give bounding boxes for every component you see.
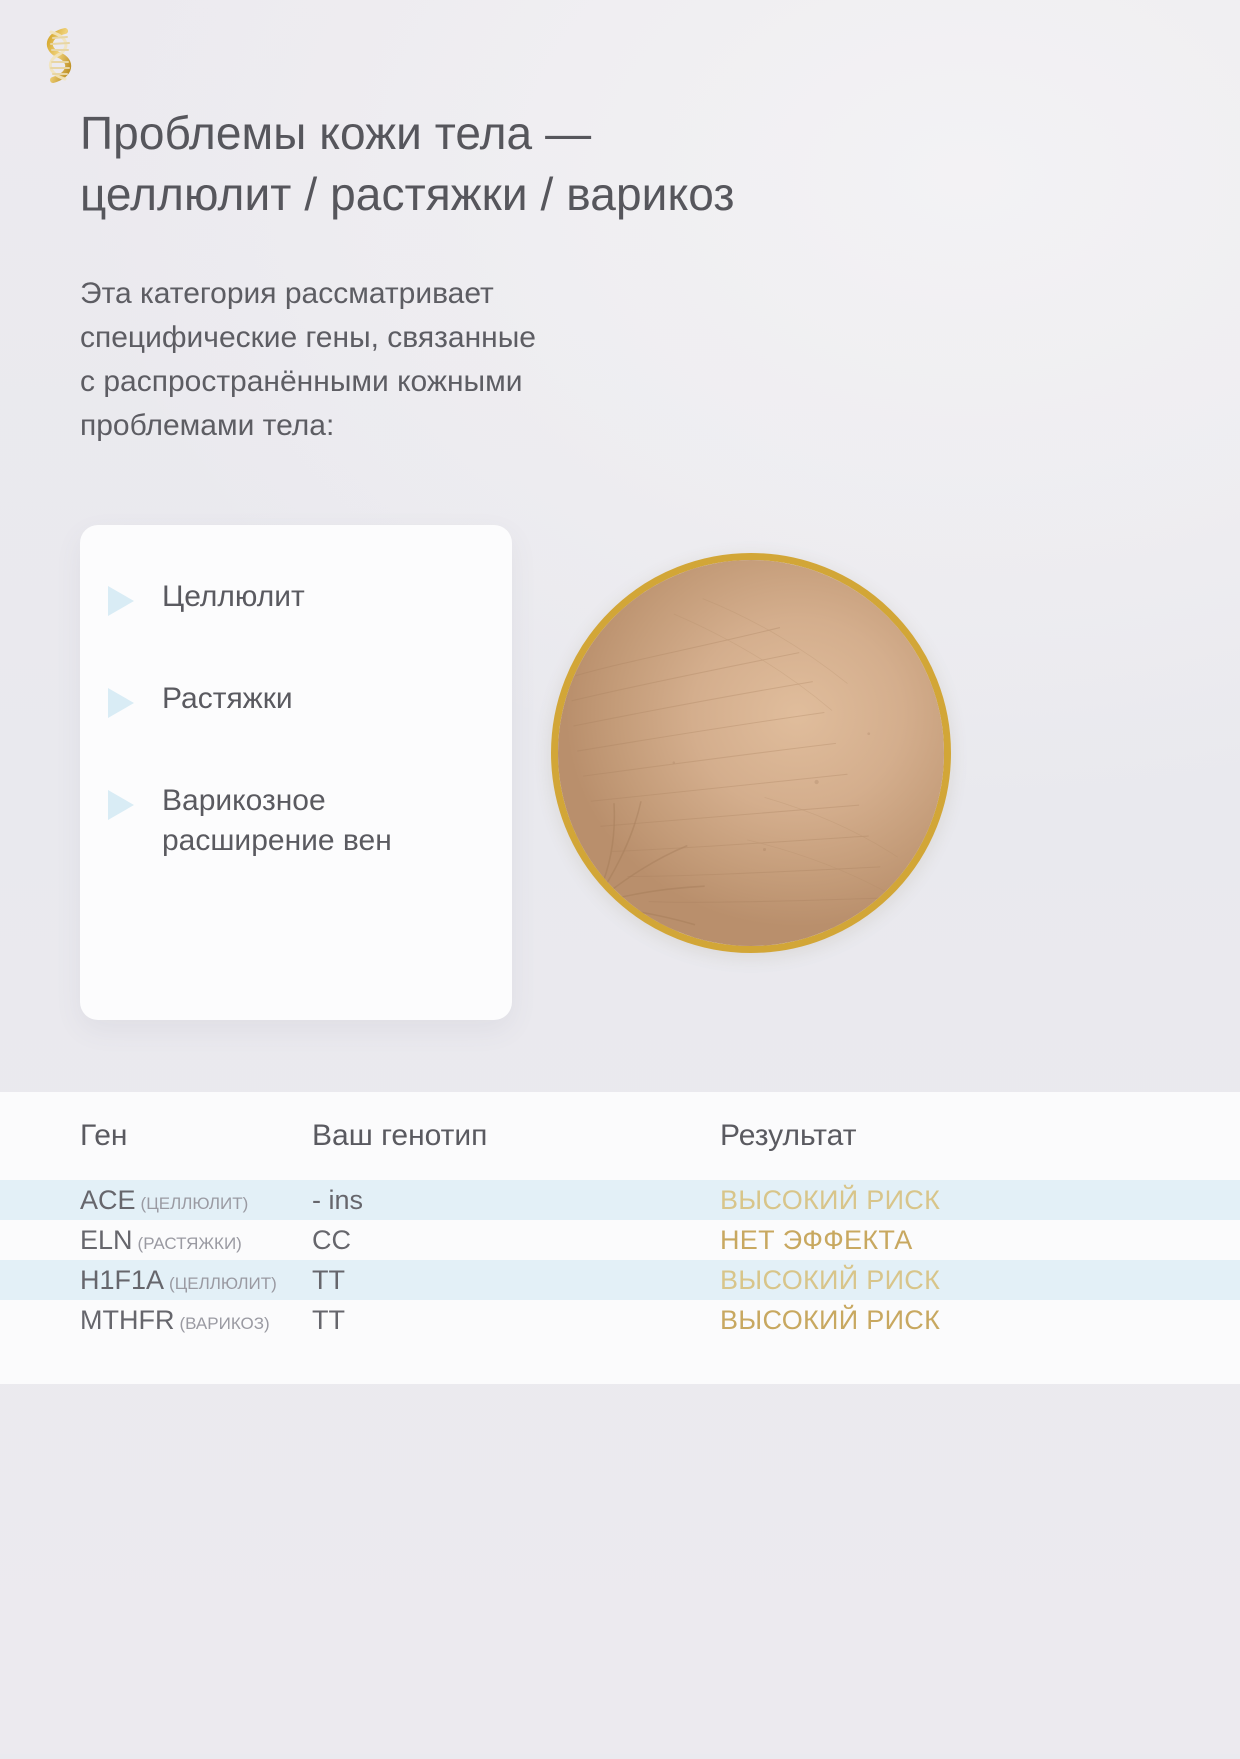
triangle-right-icon (108, 688, 134, 718)
gene-name: MTHFR (80, 1305, 174, 1335)
column-header-result: Результат (720, 1119, 1160, 1153)
list-item: Растяжки (108, 679, 494, 719)
cell-result: ВЫСОКИЙ РИСК (720, 1305, 1160, 1336)
cell-gene: MTHFR(ВАРИКОЗ) (0, 1305, 312, 1336)
triangle-right-icon (108, 790, 134, 820)
list-item-label: Растяжки (162, 679, 293, 719)
gene-name: ACE (80, 1185, 136, 1215)
cell-gene: H1F1A(ЦЕЛЛЮЛИТ) (0, 1265, 312, 1296)
cell-result: ВЫСОКИЙ РИСК (720, 1265, 1160, 1296)
table-row: MTHFR(ВАРИКОЗ) TT ВЫСОКИЙ РИСК (0, 1300, 1240, 1340)
gene-tag: (ВАРИКОЗ) (179, 1314, 269, 1333)
column-header-genotype: Ваш генотип (312, 1119, 720, 1153)
genotype-results-table: Ген Ваш генотип Результат ACE(ЦЕЛЛЮЛИТ) … (0, 1092, 1240, 1384)
table-row: ACE(ЦЕЛЛЮЛИТ) - ins ВЫСОКИЙ РИСК (0, 1180, 1240, 1220)
intro-line-3: с распространёнными кожными (80, 360, 800, 404)
photo-skin-texture (558, 560, 944, 946)
gene-name: ELN (80, 1225, 133, 1255)
conditions-card: Целлюлит Растяжки Варикозное расширение … (80, 525, 512, 1020)
triangle-right-icon (108, 586, 134, 616)
table-row: ELN(РАСТЯЖКИ) CC НЕТ ЭФФЕКТА (0, 1220, 1240, 1260)
list-item-label: Варикозное расширение вен (162, 781, 494, 861)
intro-line-2: специфические гены, связанные (80, 316, 800, 360)
table-footer-spacer (0, 1340, 1240, 1384)
list-item-label: Целлюлит (162, 577, 305, 617)
table-row: H1F1A(ЦЕЛЛЮЛИТ) TT ВЫСОКИЙ РИСК (0, 1260, 1240, 1300)
column-header-gene: Ген (0, 1119, 312, 1153)
intro-line-4: проблемами тела: (80, 404, 800, 448)
cell-result: НЕТ ЭФФЕКТА (720, 1225, 1160, 1256)
page-title-line-2: целлюлит / растяжки / варикоз (80, 164, 940, 225)
conditions-list: Целлюлит Растяжки Варикозное расширение … (108, 577, 494, 861)
page-title: Проблемы кожи тела — целлюлит / растяжки… (80, 103, 940, 225)
cell-result: ВЫСОКИЙ РИСК (720, 1185, 1160, 1216)
list-item: Варикозное расширение вен (108, 781, 494, 861)
gene-name: H1F1A (80, 1265, 164, 1295)
cell-genotype: CC (312, 1225, 720, 1256)
skin-cellulite-photo (551, 553, 951, 953)
gene-tag: (РАСТЯЖКИ) (138, 1234, 242, 1253)
cell-genotype: TT (312, 1305, 720, 1336)
dna-helix-logo (31, 22, 87, 88)
gene-tag: (ЦЕЛЛЮЛИТ) (141, 1194, 249, 1213)
gene-tag: (ЦЕЛЛЮЛИТ) (169, 1274, 277, 1293)
page-title-line-1: Проблемы кожи тела — (80, 107, 591, 159)
cell-gene: ACE(ЦЕЛЛЮЛИТ) (0, 1185, 312, 1216)
cell-genotype: - ins (312, 1185, 720, 1216)
table-header-row: Ген Ваш генотип Результат (0, 1092, 1240, 1180)
intro-paragraph: Эта категория рассматривает специфически… (80, 272, 800, 448)
dna-helix-icon (31, 22, 87, 88)
intro-line-1: Эта категория рассматривает (80, 272, 800, 316)
cell-genotype: TT (312, 1265, 720, 1296)
list-item: Целлюлит (108, 577, 494, 617)
cell-gene: ELN(РАСТЯЖКИ) (0, 1225, 312, 1256)
